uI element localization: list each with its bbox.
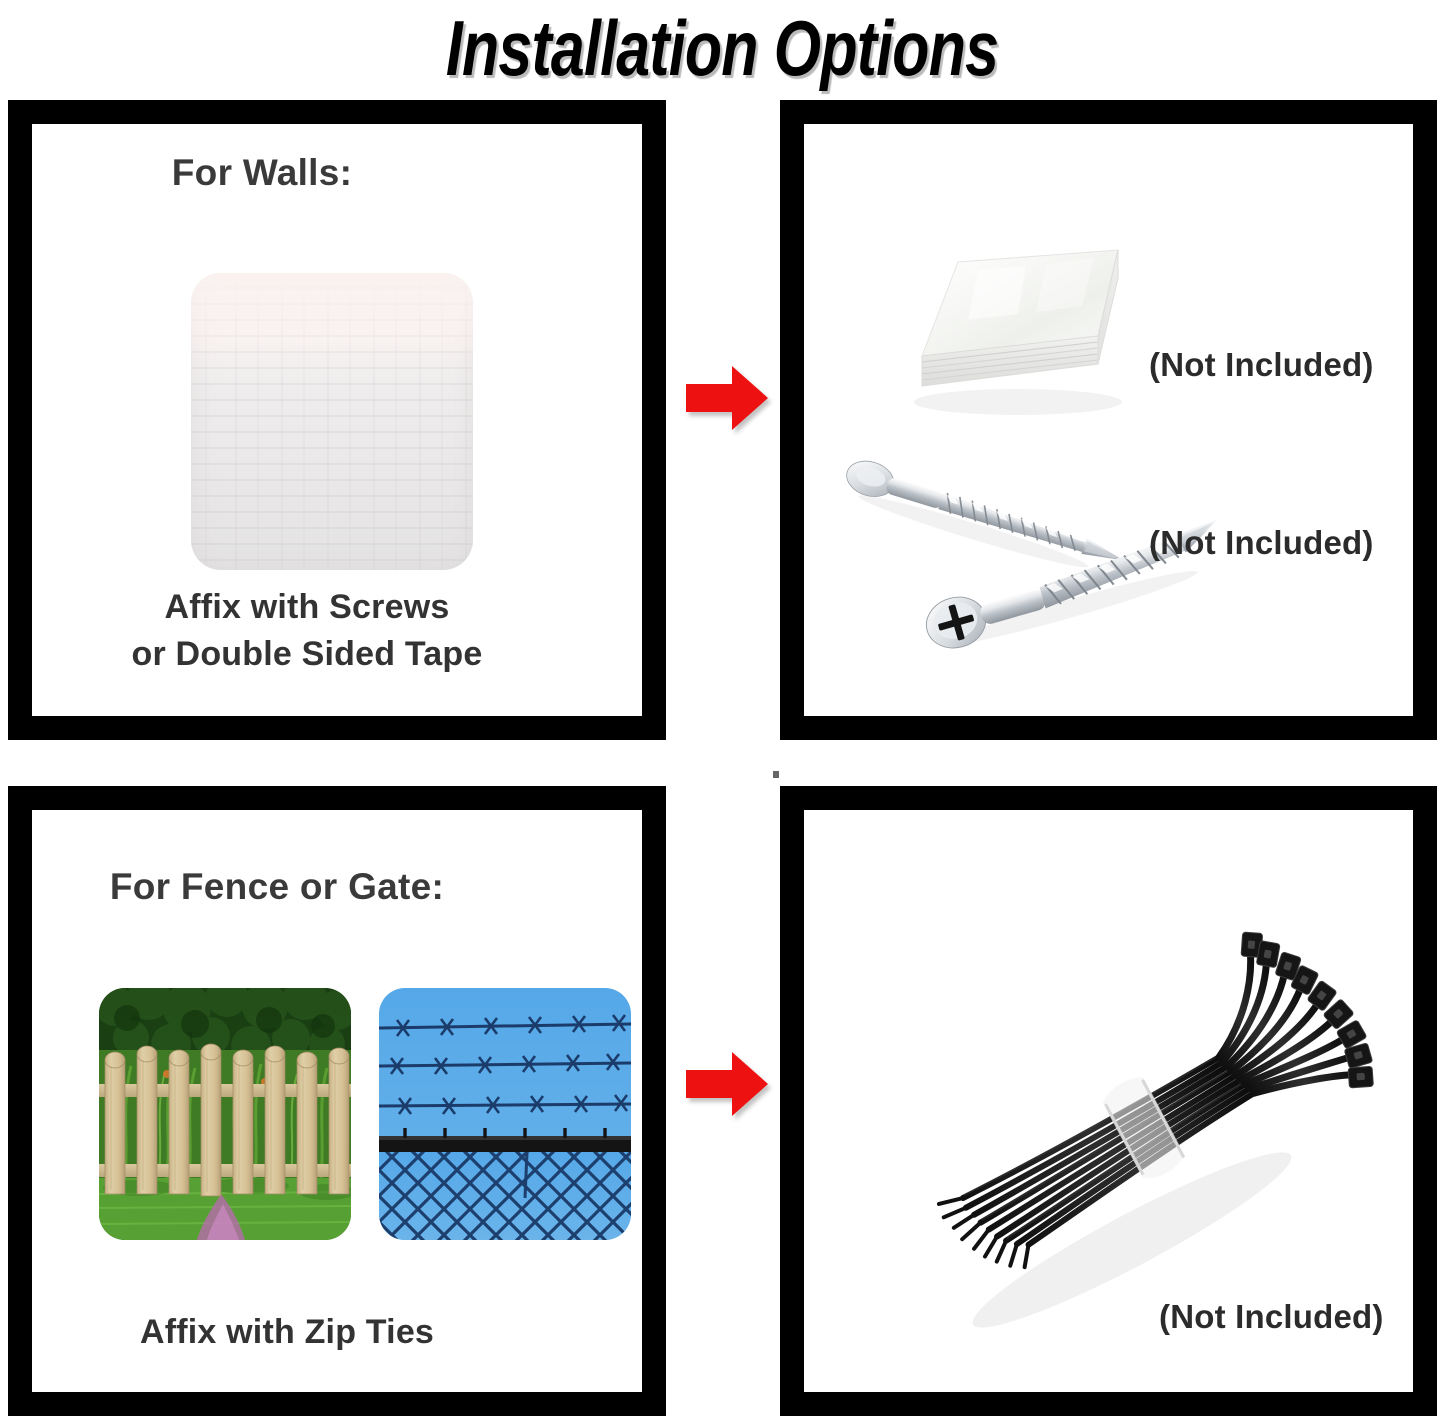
panel-for-walls-inner: For Walls: Affix with Screws or Double S… — [32, 124, 642, 716]
black-zip-tie-bundle-icon — [882, 910, 1392, 1330]
wooden-picket-fence-photo — [99, 988, 351, 1240]
tape-not-included-label: (Not Included) — [1149, 346, 1374, 384]
arrow-right-icon — [684, 1048, 770, 1120]
caption-for-fence: Affix with Zip Ties — [32, 1309, 642, 1356]
image-artifact-speck — [773, 771, 779, 778]
panel-for-walls: For Walls: Affix with Screws or Double S… — [8, 100, 666, 740]
caption-for-walls: Affix with Screws or Double Sided Tape — [32, 584, 642, 678]
page-title-bar: Installation Options — [0, 0, 1445, 96]
ziptie-not-included-label: (Not Included) — [1159, 1298, 1384, 1336]
panel-fence-hardware: (Not Included) — [780, 786, 1437, 1416]
screw-not-included-label: (Not Included) — [1149, 524, 1374, 562]
chain-link-barbed-wire-fence-photo — [379, 988, 631, 1240]
panel-for-fence-or-gate: For Fence or Gate: — [8, 786, 666, 1416]
panel-fence-hardware-inner: (Not Included) — [804, 810, 1413, 1392]
panel-wall-hardware-inner: (Not Included) — [804, 124, 1413, 716]
white-brick-wall-swatch — [191, 273, 473, 570]
caption-line-1: Affix with Screws — [32, 584, 582, 631]
panel-for-fence-inner: For Fence or Gate: — [32, 810, 642, 1392]
panel-heading-for-walls: For Walls: — [32, 152, 642, 194]
caption-line-2: or Double Sided Tape — [32, 631, 582, 678]
panel-wall-hardware: (Not Included) — [780, 100, 1437, 740]
double-sided-tape-stack-icon — [886, 244, 1146, 429]
page-title: Installation Options — [446, 9, 998, 87]
caption-line-1: Affix with Zip Ties — [32, 1309, 542, 1356]
brick-highlight-overlay — [191, 273, 473, 386]
arrow-right-icon — [684, 362, 770, 434]
panel-heading-for-fence: For Fence or Gate: — [32, 866, 642, 908]
